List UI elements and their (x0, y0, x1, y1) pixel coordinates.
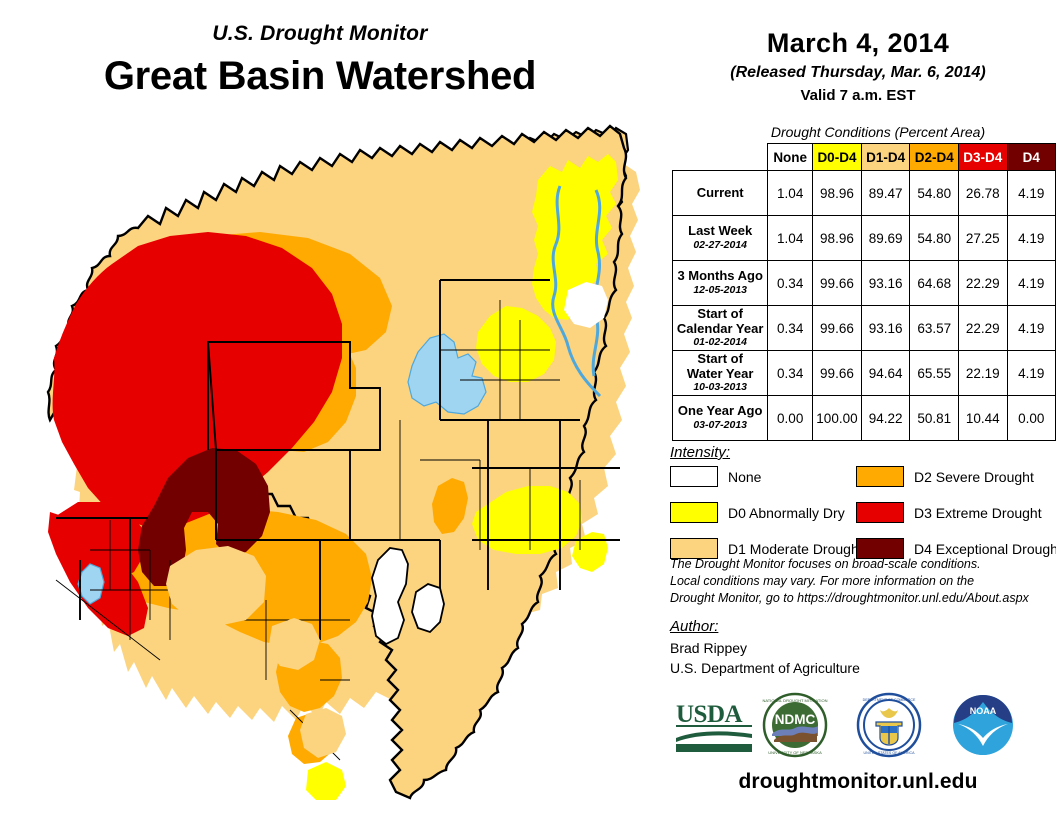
title-block: U.S. Drought Monitor Great Basin Watersh… (0, 22, 640, 99)
author-org: U.S. Department of Agriculture (670, 658, 860, 678)
row-label-start-of-calendar-year: Start ofCalendar Year 01-02-2014 (673, 306, 768, 351)
cell-d3-d4: 22.29 (959, 261, 1008, 306)
cell-d1-d4: 89.69 (861, 216, 910, 261)
legend-item-d0: D0 Abnormally Dry (670, 502, 856, 523)
svg-text:DEPARTMENT OF COMMERCE: DEPARTMENT OF COMMERCE (863, 698, 916, 702)
row-label-current: Current (673, 171, 768, 216)
legend-label: None (728, 469, 761, 485)
table-row: One Year Ago 03-07-2013 0.00 100.00 94.2… (673, 396, 1056, 441)
header-d2-d4: D2-D4 (910, 144, 959, 171)
cell-d3-d4: 26.78 (959, 171, 1008, 216)
swatch-none (670, 466, 718, 487)
cell-d0-d4: 98.96 (813, 216, 862, 261)
row-title: Current (697, 185, 744, 200)
cell-none: 0.34 (768, 261, 813, 306)
svg-text:UNITED STATES OF AMERICA: UNITED STATES OF AMERICA (864, 751, 916, 755)
table-row: Start ofCalendar Year 01-02-2014 0.34 99… (673, 306, 1056, 351)
legend-label: D0 Abnormally Dry (728, 505, 845, 521)
svg-text:NDMC: NDMC (775, 712, 816, 727)
cell-d0-d4: 100.00 (813, 396, 862, 441)
logo-row: USDA NDMC NATIONAL DROUGHT MITIGATION UN… (668, 690, 1056, 760)
table-row: Last Week 02-27-2014 1.04 98.96 89.69 54… (673, 216, 1056, 261)
cell-d4: 4.19 (1007, 171, 1055, 216)
row-title: One Year Ago (678, 403, 763, 418)
author-block: Brad Rippey U.S. Department of Agricultu… (670, 638, 860, 679)
header-d4: D4 (1007, 144, 1055, 171)
author-heading: Author: (670, 618, 718, 635)
cell-none: 0.34 (768, 351, 813, 396)
row-date: 03-07-2013 (673, 420, 767, 432)
cell-d0-d4: 99.66 (813, 306, 862, 351)
table-row: Start ofWater Year 10-03-2013 0.34 99.66… (673, 351, 1056, 396)
cell-d2-d4: 63.57 (910, 306, 959, 351)
legend-label: D4 Exceptional Drought (914, 541, 1056, 557)
table-header-row: None D0-D4 D1-D4 D2-D4 D3-D4 D4 (673, 144, 1056, 171)
cell-d1-d4: 89.47 (861, 171, 910, 216)
cell-d3-d4: 10.44 (959, 396, 1008, 441)
cell-d4: 4.19 (1007, 306, 1055, 351)
header-corner-blank (673, 144, 768, 171)
row-title: 3 Months Ago (677, 268, 762, 283)
drought-map[interactable] (20, 120, 660, 800)
region-d0-tail-tip (306, 762, 346, 800)
row-date: 01-02-2014 (673, 337, 767, 349)
usda-logo[interactable]: USDA (674, 698, 756, 757)
cell-d4: 4.19 (1007, 351, 1055, 396)
release-date: (Released Thursday, Mar. 6, 2014) (660, 64, 1056, 82)
cell-d4: 4.19 (1007, 261, 1055, 306)
legend-item-none: None (670, 466, 856, 487)
svg-text:USDA: USDA (676, 701, 743, 728)
row-title: Last Week (688, 223, 752, 238)
header-none: None (768, 144, 813, 171)
disclaimer-line-1: The Drought Monitor focuses on broad-sca… (670, 556, 1056, 573)
cell-d2-d4: 50.81 (910, 396, 959, 441)
cell-d2-d4: 54.80 (910, 171, 959, 216)
header-d3-d4: D3-D4 (959, 144, 1008, 171)
swatch-d0 (670, 502, 718, 523)
svg-text:NATIONAL DROUGHT MITIGATION: NATIONAL DROUGHT MITIGATION (763, 698, 828, 703)
cell-d3-d4: 22.19 (959, 351, 1008, 396)
legend-label: D1 Moderate Drought (728, 541, 863, 557)
cell-d1-d4: 93.16 (861, 306, 910, 351)
disclaimer-line-3[interactable]: Drought Monitor, go to https://droughtmo… (670, 590, 1056, 607)
header-d1-d4: D1-D4 (861, 144, 910, 171)
ndmc-logo[interactable]: NDMC NATIONAL DROUGHT MITIGATION UNIVERS… (762, 692, 828, 763)
table-row: Current 1.04 98.96 89.47 54.80 26.78 4.1… (673, 171, 1056, 216)
row-label-start-of-water-year: Start ofWater Year 10-03-2013 (673, 351, 768, 396)
header-d0-d4: D0-D4 (813, 144, 862, 171)
cell-d3-d4: 27.25 (959, 216, 1008, 261)
cell-d1-d4: 94.64 (861, 351, 910, 396)
cell-d4: 4.19 (1007, 216, 1055, 261)
swatch-d3 (856, 502, 904, 523)
table-row: 3 Months Ago 12-05-2013 0.34 99.66 93.16… (673, 261, 1056, 306)
cell-none: 0.34 (768, 306, 813, 351)
cell-d3-d4: 22.29 (959, 306, 1008, 351)
row-label-one-year-ago: One Year Ago 03-07-2013 (673, 396, 768, 441)
row-date: 10-03-2013 (673, 382, 767, 394)
cell-none: 1.04 (768, 216, 813, 261)
cell-d2-d4: 65.55 (910, 351, 959, 396)
legend-label: D3 Extreme Drought (914, 505, 1042, 521)
report-date: March 4, 2014 (660, 28, 1056, 59)
cell-none: 0.00 (768, 396, 813, 441)
subtitle: U.S. Drought Monitor (0, 22, 640, 46)
swatch-d2 (856, 466, 904, 487)
svg-text:NOAA: NOAA (970, 706, 997, 716)
legend-item-d3: D3 Extreme Drought (856, 502, 1042, 523)
cell-d0-d4: 99.66 (813, 351, 862, 396)
legend-label: D2 Severe Drought (914, 469, 1034, 485)
valid-time: Valid 7 a.m. EST (660, 87, 1056, 104)
legend-item-d2: D2 Severe Drought (856, 466, 1042, 487)
site-url[interactable]: droughtmonitor.unl.edu (660, 770, 1056, 794)
disclaimer: The Drought Monitor focuses on broad-sca… (670, 556, 1056, 607)
svg-text:UNIVERSITY OF NEBRASKA: UNIVERSITY OF NEBRASKA (768, 750, 822, 755)
row-date: 02-27-2014 (673, 240, 767, 252)
legend: None D2 Severe Drought D0 Abnormally Dry… (670, 466, 1050, 559)
disclaimer-line-2: Local conditions may vary. For more info… (670, 573, 1056, 590)
cell-d2-d4: 64.68 (910, 261, 959, 306)
cell-d4: 0.00 (1007, 396, 1055, 441)
intensity-heading: Intensity: (670, 444, 730, 461)
row-label-3-months-ago: 3 Months Ago 12-05-2013 (673, 261, 768, 306)
cell-d1-d4: 93.16 (861, 261, 910, 306)
row-title: Start ofWater Year (687, 351, 754, 381)
author-name: Brad Rippey (670, 638, 860, 658)
cell-d0-d4: 99.66 (813, 261, 862, 306)
drought-conditions-table: None D0-D4 D1-D4 D2-D4 D3-D4 D4 Current … (672, 143, 1056, 441)
noaa-logo[interactable]: NOAA (950, 692, 1016, 763)
row-label-last-week: Last Week 02-27-2014 (673, 216, 768, 261)
commerce-seal[interactable]: DEPARTMENT OF COMMERCE UNITED STATES OF … (856, 692, 922, 763)
cell-d1-d4: 94.22 (861, 396, 910, 441)
table-caption: Drought Conditions (Percent Area) (700, 124, 1056, 140)
row-date: 12-05-2013 (673, 285, 767, 297)
cell-none: 1.04 (768, 171, 813, 216)
row-title: Start ofCalendar Year (677, 306, 763, 336)
cell-d0-d4: 98.96 (813, 171, 862, 216)
date-block: March 4, 2014 (Released Thursday, Mar. 6… (660, 28, 1056, 104)
page-title: Great Basin Watershed (0, 54, 640, 99)
cell-d2-d4: 54.80 (910, 216, 959, 261)
